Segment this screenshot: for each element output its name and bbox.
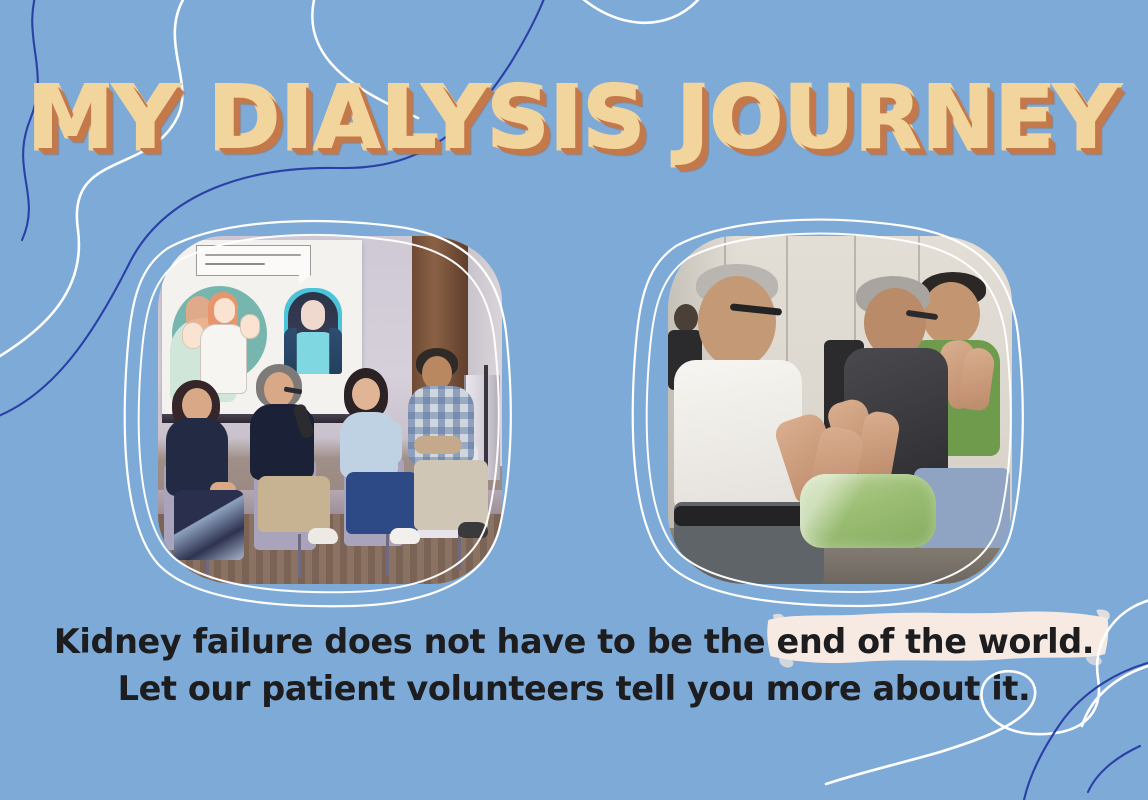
photo-image-panel: [158, 236, 502, 584]
green-cushion: [800, 474, 936, 548]
poster-canvas: MY DIALYSIS JOURNEY: [0, 0, 1148, 800]
poster-caption: Kidney failure does not have to be the e…: [0, 618, 1148, 712]
poster-title: MY DIALYSIS JOURNEY: [0, 76, 1148, 162]
caption-line-1: Kidney failure does not have to be the e…: [0, 618, 1148, 665]
photo-image-audience: [668, 236, 1012, 584]
slide-speech-bubble: [196, 245, 311, 276]
caption-highlight-text: end of the world.: [777, 622, 1095, 661]
photo-panel-discussion[interactable]: [130, 222, 508, 604]
photo-row: [0, 222, 1148, 604]
caption-highlight-wrap: end of the world.: [777, 618, 1095, 665]
caption-line-1-text: Kidney failure does not have to be the: [54, 622, 777, 661]
caption-line-2: Let our patient volunteers tell you more…: [0, 665, 1148, 712]
photo-audience-clapping[interactable]: [640, 222, 1018, 604]
